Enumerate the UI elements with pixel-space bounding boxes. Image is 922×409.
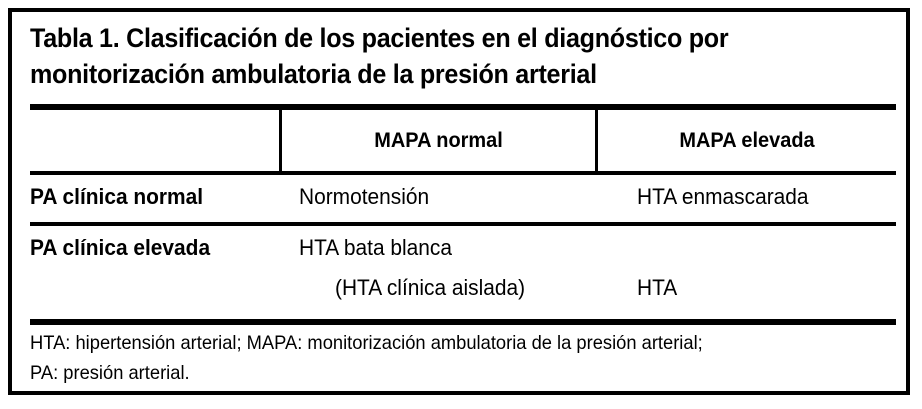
table-footnote: HTA: hipertensión arterial; MAPA: monito… xyxy=(30,328,848,388)
cell-hta-bata-blanca: HTA bata blanca xyxy=(299,228,452,268)
cell-hta-clinica-aislada: (HTA clínica aislada) xyxy=(335,268,525,308)
cell-hta-enmascarada: HTA enmascarada xyxy=(637,177,809,217)
cell-normotension: Normotensión xyxy=(299,177,429,217)
table-frame: Tabla 1. Clasificación de los pacientes … xyxy=(8,8,910,395)
column-header-mapa-elevada: MAPA elevada xyxy=(605,110,888,171)
header-vertical-divider-2 xyxy=(595,110,598,171)
table-row: PA clínica normal Normotensión HTA enmas… xyxy=(12,177,906,222)
table-title: Tabla 1. Clasificación de los pacientes … xyxy=(30,20,816,92)
cell-hta: HTA xyxy=(637,268,677,308)
rule-under-row-2 xyxy=(30,319,896,325)
rule-under-row-1 xyxy=(30,222,896,226)
table-row: PA clínica elevada HTA bata blanca (HTA … xyxy=(12,228,906,319)
header-vertical-divider-1 xyxy=(279,110,282,171)
row-header-pa-clinica-elevada: PA clínica elevada xyxy=(30,228,268,268)
rule-under-header xyxy=(30,171,896,175)
table-header-row: MAPA normal MAPA elevada xyxy=(12,110,906,171)
column-header-mapa-normal: MAPA normal xyxy=(290,110,587,171)
row-header-pa-clinica-normal: PA clínica normal xyxy=(30,177,268,217)
